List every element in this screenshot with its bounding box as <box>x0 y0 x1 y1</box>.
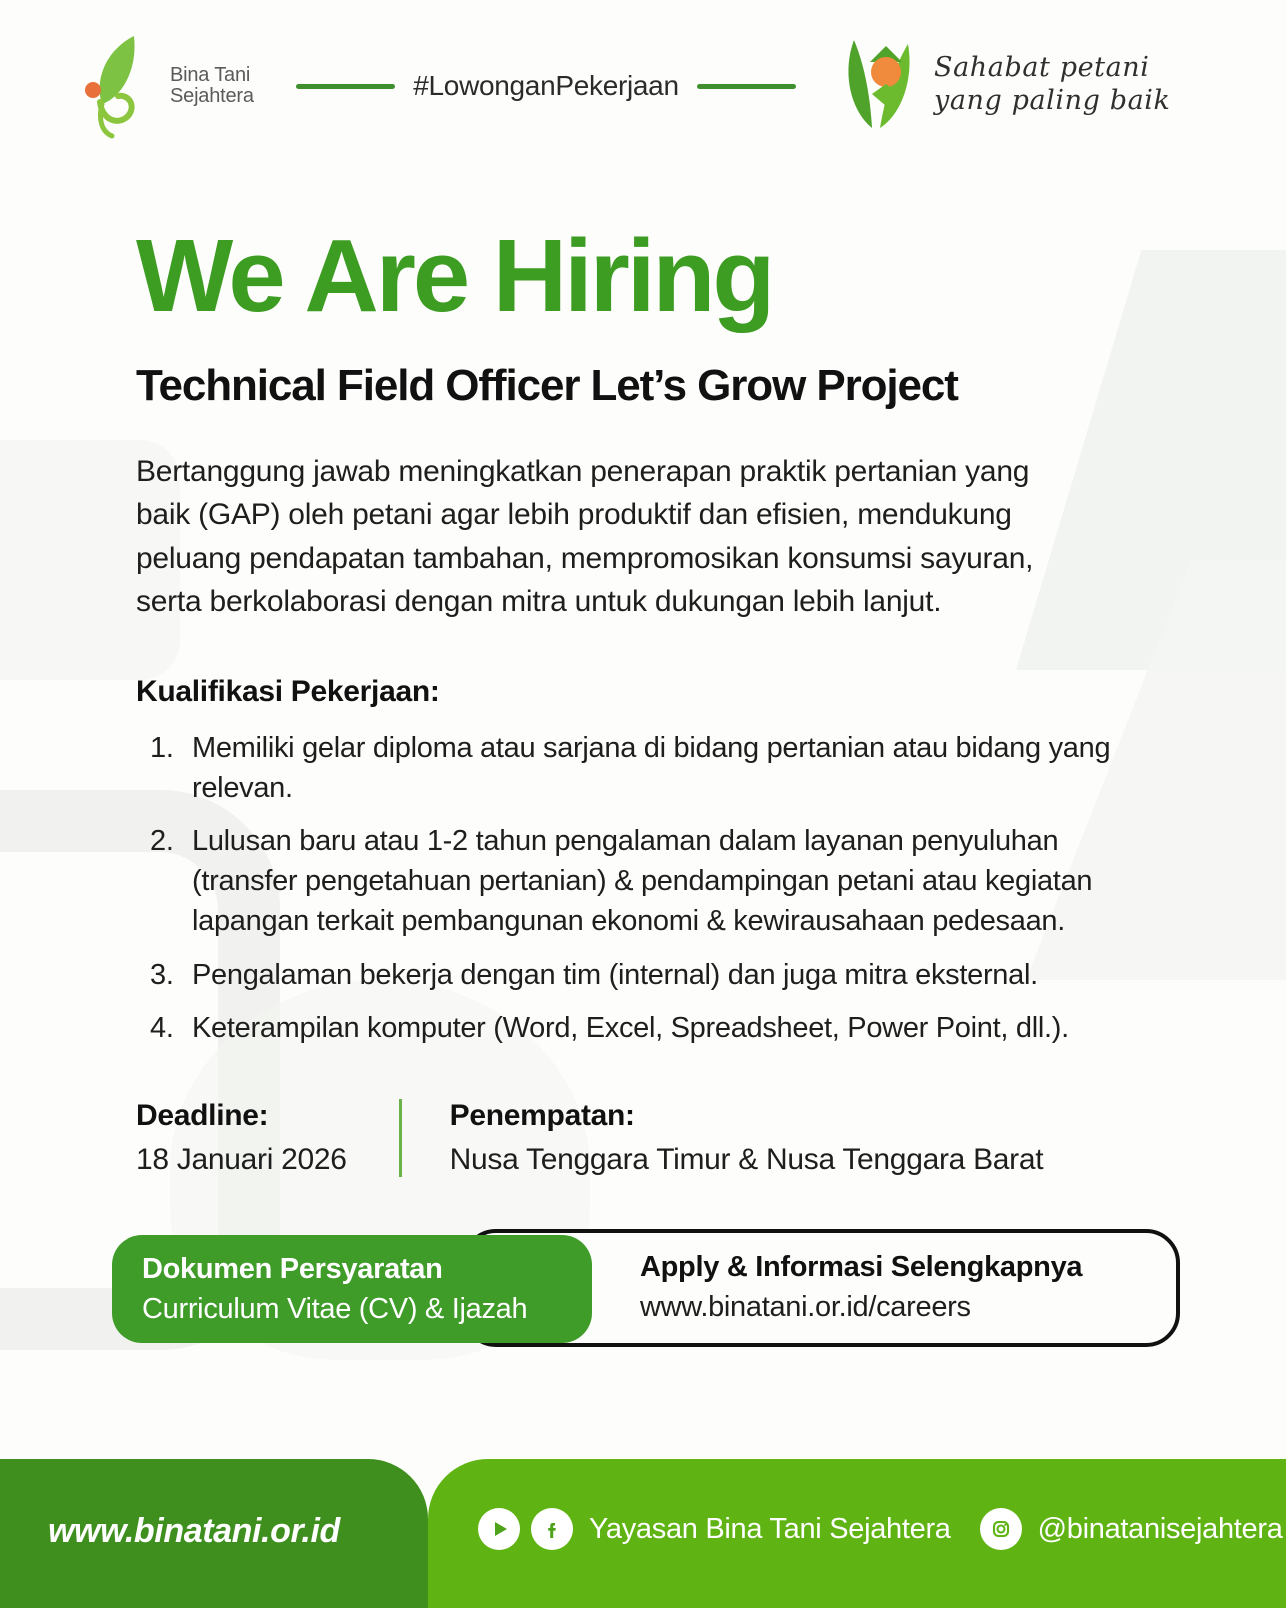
instagram-icon[interactable] <box>980 1508 1022 1550</box>
list-item: Pengalaman bekerja dengan tim (internal)… <box>136 956 1150 996</box>
list-item: Memiliki gelar diploma atau sarjana di b… <box>136 729 1150 808</box>
footer-instagram-handle: @binatanisejahtera <box>1038 1513 1283 1546</box>
bina-tani-logo-text: Bina Tani Sejahtera <box>170 65 254 108</box>
poster-body: We Are Hiring Technical Field Officer Le… <box>0 224 1286 1347</box>
cta-section: Dokumen Persyaratan Curriculum Vitae (CV… <box>136 1229 1150 1347</box>
deadline-block: Deadline: 18 Januari 2026 <box>136 1099 377 1177</box>
tagline-line2: yang paling baik <box>934 85 1171 116</box>
apply-info-box[interactable]: Apply & Informasi Selengkapnya www.binat… <box>640 1251 1082 1324</box>
job-position-title: Technical Field Officer Let’s Grow Proje… <box>136 361 1150 410</box>
logo-text-line1: Bina Tani <box>170 64 250 86</box>
list-item: Keterampilan komputer (Word, Excel, Spre… <box>136 1009 1150 1049</box>
meta-info: Deadline: 18 Januari 2026 Penempatan: Nu… <box>136 1099 1150 1177</box>
poster-footer: www.binatani.or.id Yayasan Bina Tani Sej… <box>0 1450 1286 1608</box>
job-poster: Bina Tani Sejahtera #LowonganPekerjaan S… <box>0 0 1286 1608</box>
placement-label: Penempatan: <box>450 1099 1044 1133</box>
poster-header: Bina Tani Sejahtera #LowonganPekerjaan S… <box>0 0 1286 170</box>
footer-social-name: Yayasan Bina Tani Sejahtera <box>589 1513 951 1546</box>
documents-required-box: Dokumen Persyaratan Curriculum Vitae (CV… <box>112 1235 592 1343</box>
page-title: We Are Hiring <box>136 224 1150 327</box>
divider-line-right <box>697 84 796 89</box>
job-description: Bertanggung jawab meningkatkan penerapan… <box>136 450 1066 623</box>
placement-value: Nusa Tenggara Timur & Nusa Tenggara Bara… <box>450 1143 1044 1177</box>
farmer-leaf-icon <box>840 28 922 141</box>
tagline-line1: Sahabat petani <box>934 52 1150 83</box>
qualifications-list: Memiliki gelar diploma atau sarjana di b… <box>136 729 1150 1049</box>
bina-tani-logo: Bina Tani Sejahtera <box>72 26 262 146</box>
documents-title: Dokumen Persyaratan <box>142 1253 592 1286</box>
hashtag-divider: #LowonganPekerjaan <box>296 70 796 102</box>
deadline-value: 18 Januari 2026 <box>136 1143 347 1177</box>
footer-website-url[interactable]: www.binatani.or.id <box>48 1512 340 1551</box>
youtube-icon[interactable] <box>478 1508 520 1550</box>
sahabat-petani-logo: Sahabat petani yang paling baik <box>840 28 1171 141</box>
logo-text-line2: Sejahtera <box>170 85 254 107</box>
footer-social-links: Yayasan Bina Tani Sejahtera @binatanisej… <box>478 1508 1286 1550</box>
sahabat-petani-tagline: Sahabat petani yang paling baik <box>934 52 1171 118</box>
placement-block: Penempatan: Nusa Tenggara Timur & Nusa T… <box>399 1099 1074 1177</box>
apply-url[interactable]: www.binatani.or.id/careers <box>640 1291 1082 1324</box>
apply-title: Apply & Informasi Selengkapnya <box>640 1251 1082 1284</box>
facebook-icon[interactable] <box>531 1508 573 1550</box>
list-item: Lulusan baru atau 1-2 tahun pengalaman d… <box>136 822 1150 941</box>
leaf-logo-icon <box>72 28 168 145</box>
qualifications-heading: Kualifikasi Pekerjaan: <box>136 675 1150 709</box>
divider-line-left <box>296 84 395 89</box>
deadline-label: Deadline: <box>136 1099 347 1133</box>
hashtag-label: #LowonganPekerjaan <box>413 70 678 102</box>
documents-value: Curriculum Vitae (CV) & Ijazah <box>142 1293 592 1326</box>
